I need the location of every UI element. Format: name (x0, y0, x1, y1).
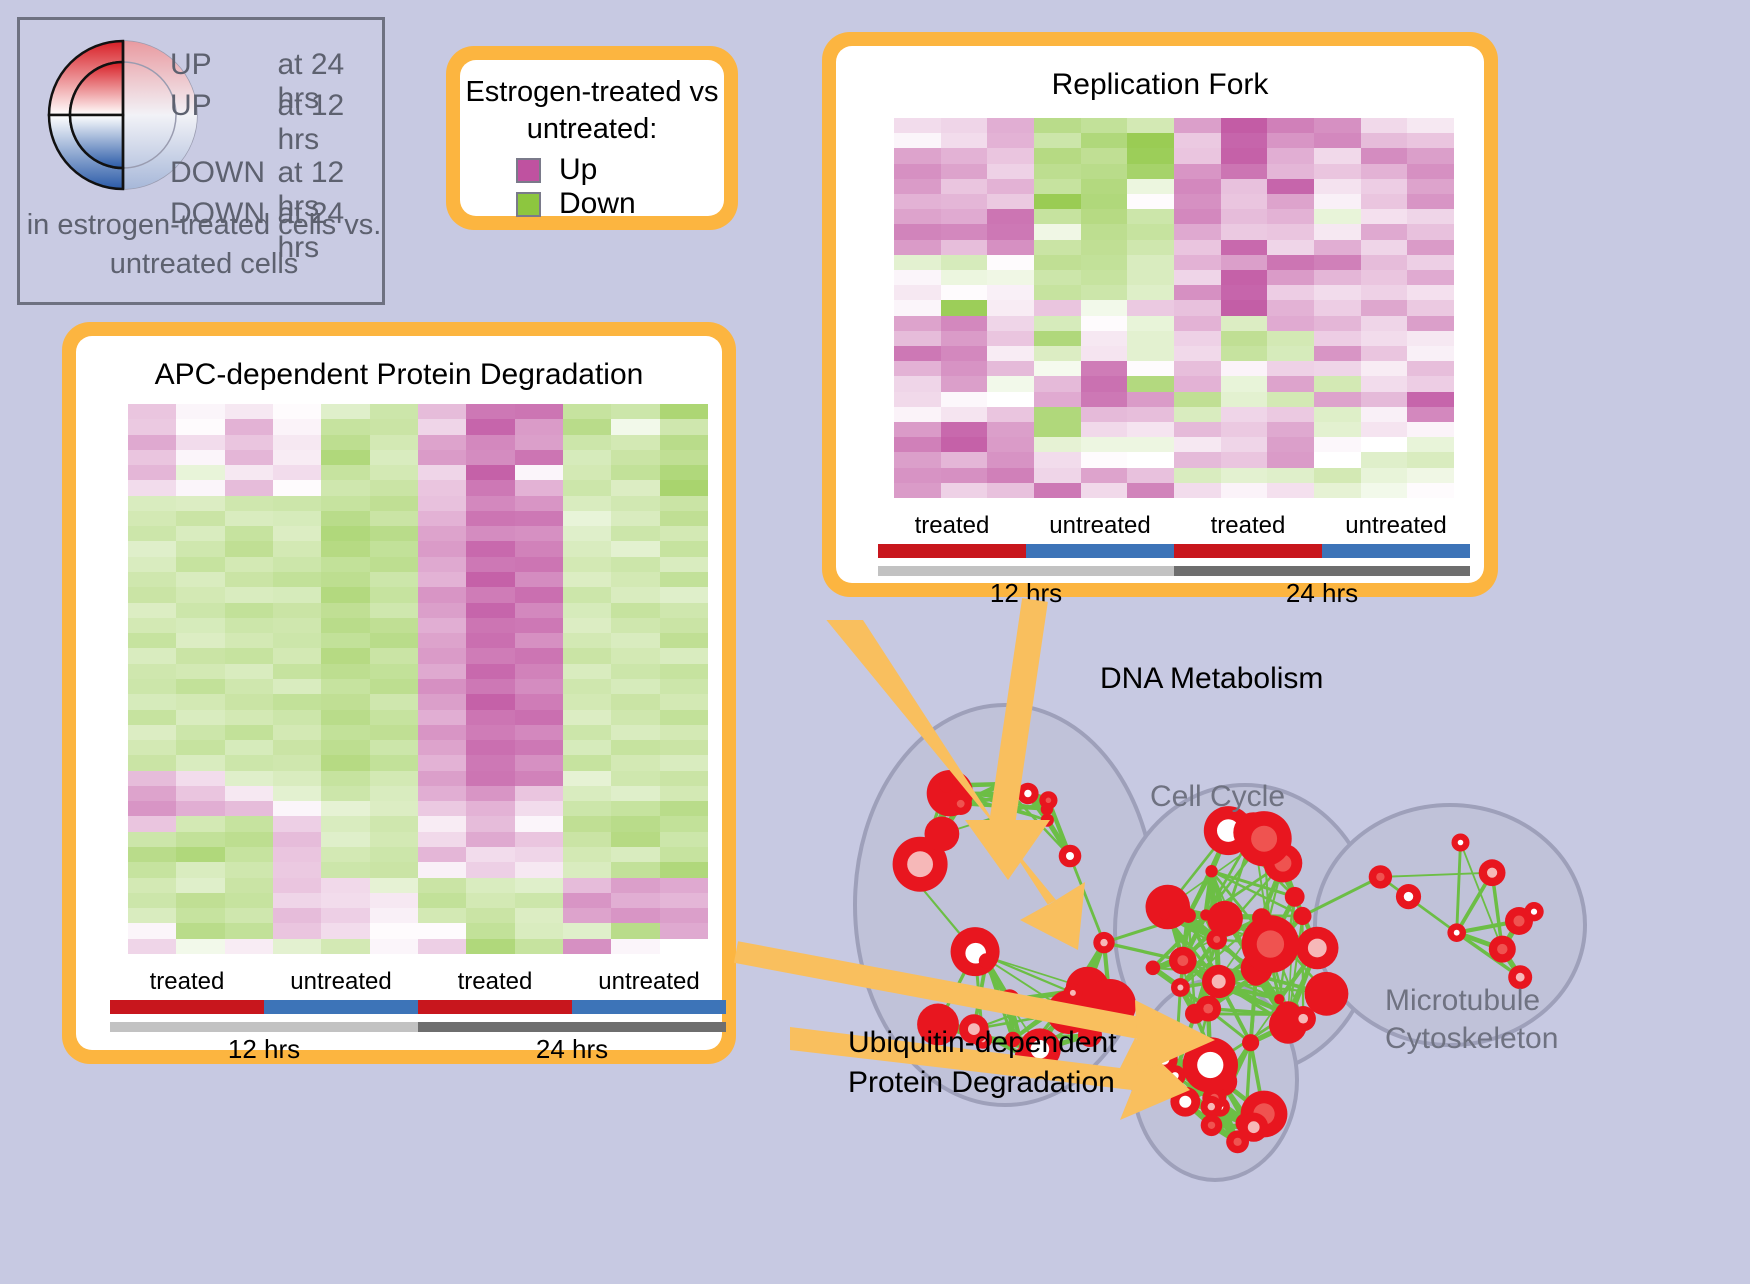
heatmap-cell (273, 511, 321, 526)
heatmap-cell (1127, 255, 1174, 270)
heatmap-cell (321, 541, 369, 556)
heatmap-cell (563, 786, 611, 801)
heatmap-cell (515, 923, 563, 938)
heatmap-cell (894, 361, 941, 376)
heatmap-cell (370, 450, 418, 465)
heatmap-cell (466, 633, 514, 648)
heatmap-cell (466, 923, 514, 938)
heatmap-cell (128, 679, 176, 694)
heatmap-cell (370, 587, 418, 602)
heatmap-cell (1081, 255, 1128, 270)
heatmap-cell (418, 801, 466, 816)
heatmap-cell (466, 740, 514, 755)
heatmap-cell (515, 832, 563, 847)
heatmap-cell (1314, 118, 1361, 133)
heatmap-cell (611, 435, 659, 450)
heatmap-cell (1267, 361, 1314, 376)
heatmap-cell (1127, 452, 1174, 467)
heatmap-cell (1081, 194, 1128, 209)
heatmap-cell (370, 740, 418, 755)
heatmap-cell (515, 404, 563, 419)
heatmap-cell (1221, 452, 1268, 467)
heatmap-cell (1267, 179, 1314, 194)
heatmap-cell (1361, 392, 1408, 407)
time-label: 24 hrs (418, 1034, 726, 1065)
heatmap-cell (321, 480, 369, 495)
heatmap-cell (1314, 452, 1361, 467)
heatmap-cell (1127, 437, 1174, 452)
heatmap-cell (466, 450, 514, 465)
heatmap-cell (466, 862, 514, 877)
heatmap-cell (660, 878, 708, 893)
heatmap-cell (894, 164, 941, 179)
heatmap-cell (273, 664, 321, 679)
heatmap-cell (273, 603, 321, 618)
heatmap-cell (515, 603, 563, 618)
treatment-segment (572, 1000, 726, 1014)
heatmap-cell (370, 694, 418, 709)
heatmap-cell (660, 893, 708, 908)
heatmap-cell (515, 755, 563, 770)
heatmap-cell (128, 557, 176, 572)
heatmap-cell (1221, 118, 1268, 133)
heatmap-cell (611, 572, 659, 587)
heatmap-cell (128, 572, 176, 587)
heatmap-cell (1267, 270, 1314, 285)
heatmap-cell (466, 878, 514, 893)
heatmap-cell (176, 603, 224, 618)
heatmap-cell (225, 725, 273, 740)
heatmap-cell (1314, 392, 1361, 407)
ck-time: at 12 hrs (277, 89, 382, 157)
heatmap-cell (563, 465, 611, 480)
heatmap-cell (176, 801, 224, 816)
heatmap-cell (1267, 240, 1314, 255)
time-segment-24h (418, 1022, 726, 1032)
heatmap-cell (370, 511, 418, 526)
heatmap-cell (563, 541, 611, 556)
heatmap-cell (1221, 437, 1268, 452)
heatmap-cell (660, 587, 708, 602)
heatmap-cell (894, 285, 941, 300)
heatmap-cell (1127, 300, 1174, 315)
heatmap-cell (1314, 407, 1361, 422)
heatmap-cell (466, 755, 514, 770)
heatmap-cell (370, 496, 418, 511)
heatmap-cell (894, 209, 941, 224)
heatmap-cell (1081, 452, 1128, 467)
heatmap-cell (321, 526, 369, 541)
heatmap-cell (1407, 483, 1454, 498)
heatmap-cell (225, 923, 273, 938)
heatmap-cell (1221, 240, 1268, 255)
heatmap-cell (987, 285, 1034, 300)
treatment-segment (418, 1000, 572, 1014)
heatmap-cell (894, 316, 941, 331)
heatmap-cell (273, 832, 321, 847)
heatmap-cell (418, 496, 466, 511)
heatmap-cell (176, 572, 224, 587)
heatmap-cell (321, 939, 369, 954)
heatmap-cell (273, 618, 321, 633)
heatmap-cell (418, 893, 466, 908)
heatmap-cell (515, 847, 563, 862)
heatmap-cell (1034, 194, 1081, 209)
heatmap-cell (418, 786, 466, 801)
heatmap-cell (1314, 285, 1361, 300)
heatmap-cell (1407, 468, 1454, 483)
heatmap-cell (563, 603, 611, 618)
heatmap-cell (515, 893, 563, 908)
heatmap-cell (1081, 316, 1128, 331)
heatmap-cell (176, 816, 224, 831)
heatmap-cell (1174, 300, 1221, 315)
heatmap-cell (941, 148, 988, 163)
heatmap-cell (321, 893, 369, 908)
heatmap-cell (660, 435, 708, 450)
heatmap-cell (466, 572, 514, 587)
heatmap-cell (515, 939, 563, 954)
heatmap-cell (1314, 331, 1361, 346)
heatmap-cell (894, 194, 941, 209)
heatmap-cell (941, 285, 988, 300)
replication-fork-heatmap (894, 118, 1454, 498)
heatmap-cell (466, 786, 514, 801)
heatmap-cell (941, 392, 988, 407)
heatmap-cell (1267, 407, 1314, 422)
heatmap-cell (225, 618, 273, 633)
heatmap-cell (611, 710, 659, 725)
heatmap-cell (941, 316, 988, 331)
heatmap-cell (660, 710, 708, 725)
heatmap-cell (1407, 179, 1454, 194)
group-label: untreated (1322, 512, 1470, 540)
heatmap-cell (225, 939, 273, 954)
heatmap-cell (941, 224, 988, 239)
apc-treatment-bar (110, 1000, 726, 1014)
heatmap-cell (321, 878, 369, 893)
heatmap-cell (611, 603, 659, 618)
heatmap-cell (321, 740, 369, 755)
heatmap-cell (515, 572, 563, 587)
replication-fork-treatment-bar (878, 544, 1470, 558)
heatmap-cell (1361, 483, 1408, 498)
heatmap-cell (515, 710, 563, 725)
heatmap-cell (1034, 285, 1081, 300)
heatmap-cell (1221, 164, 1268, 179)
heatmap-cell (1034, 224, 1081, 239)
heatmap-cell (987, 300, 1034, 315)
heatmap-cell (418, 847, 466, 862)
heatmap-cell (894, 255, 941, 270)
heatmap-cell (1034, 209, 1081, 224)
group-label: untreated (572, 968, 726, 996)
heatmap-cell (1221, 376, 1268, 391)
callout-arrows (790, 620, 1750, 1279)
apc-panel: APC-dependent Protein Degradation treate… (62, 322, 736, 1064)
heatmap-cell (128, 832, 176, 847)
heatmap-cell (1034, 437, 1081, 452)
heatmap-cell (1174, 483, 1221, 498)
heatmap-cell (1267, 224, 1314, 239)
heatmap-cell (1407, 164, 1454, 179)
heatmap-cell (1081, 346, 1128, 361)
heatmap-cell (1267, 133, 1314, 148)
heatmap-cell (660, 633, 708, 648)
cluster-label-ubiquitin-protein-degradation: Ubiquitin-dependent Protein Degradation (848, 1023, 1117, 1103)
heatmap-cell (1034, 361, 1081, 376)
heatmap-cell (611, 816, 659, 831)
heatmap-cell (660, 679, 708, 694)
heatmap-cell (1361, 255, 1408, 270)
heatmap-cell (1314, 483, 1361, 498)
heatmap-cell (611, 694, 659, 709)
heatmap-cell (1361, 209, 1408, 224)
heatmap-cell (1267, 376, 1314, 391)
heatmap-cell (1127, 331, 1174, 346)
color-key-box: UP at 24 hrs UP at 12 hrs DOWN at 12 hrs… (17, 17, 385, 305)
heatmap-cell (1034, 148, 1081, 163)
heatmap-cell (563, 526, 611, 541)
heatmap-cell (418, 450, 466, 465)
heatmap-cell (176, 618, 224, 633)
heatmap-cell (987, 346, 1034, 361)
heatmap-cell (1081, 376, 1128, 391)
heatmap-cell (1407, 133, 1454, 148)
heatmap-cell (225, 404, 273, 419)
heatmap-cell (418, 862, 466, 877)
heatmap-cell (1127, 224, 1174, 239)
heatmap-cell (273, 679, 321, 694)
heatmap-cell (225, 648, 273, 663)
heatmap-cell (273, 847, 321, 862)
heatmap-cell (225, 465, 273, 480)
heatmap-cell (1034, 118, 1081, 133)
heatmap-cell (321, 450, 369, 465)
heatmap-cell (466, 465, 514, 480)
heatmap-cell (225, 908, 273, 923)
heatmap-cell (660, 541, 708, 556)
heatmap-cell (987, 361, 1034, 376)
heatmap-cell (1034, 300, 1081, 315)
heatmap-cell (273, 480, 321, 495)
heatmap-cell (1221, 270, 1268, 285)
heatmap-cell (515, 862, 563, 877)
heatmap-cell (1361, 452, 1408, 467)
heatmap-cell (321, 404, 369, 419)
heatmap-cell (1314, 148, 1361, 163)
heatmap-cell (1361, 148, 1408, 163)
heatmap-cell (515, 786, 563, 801)
heatmap-cell (176, 694, 224, 709)
heatmap-cell (660, 450, 708, 465)
heatmap-cell (321, 511, 369, 526)
heatmap-cell (515, 557, 563, 572)
cluster-label-cell-cycle: Cell Cycle (1150, 780, 1285, 814)
heatmap-cell (1361, 361, 1408, 376)
heatmap-cell (418, 557, 466, 572)
cluster-label-microtubule-cytoskeleton: Microtubule Cytoskeleton (1385, 982, 1558, 1058)
heatmap-cell (1034, 376, 1081, 391)
legend-title: Estrogen-treated vs untreated: (460, 74, 724, 148)
heatmap-cell (1174, 468, 1221, 483)
heatmap-cell (563, 572, 611, 587)
heatmap-cell (370, 801, 418, 816)
heatmap-cell (611, 725, 659, 740)
heatmap-cell (1174, 240, 1221, 255)
heatmap-cell (515, 694, 563, 709)
heatmap-cell (1221, 209, 1268, 224)
heatmap-cell (1267, 422, 1314, 437)
heatmap-cell (894, 179, 941, 194)
heatmap-cell (563, 725, 611, 740)
apc-time-bar (110, 1022, 726, 1032)
heatmap-cell (370, 908, 418, 923)
heatmap-cell (176, 557, 224, 572)
heatmap-cell (466, 480, 514, 495)
heatmap-cell (1361, 407, 1408, 422)
heatmap-cell (321, 694, 369, 709)
heatmap-cell (894, 452, 941, 467)
heatmap-cell (611, 496, 659, 511)
heatmap-cell (1314, 224, 1361, 239)
heatmap-cell (1081, 392, 1128, 407)
heatmap-cell (1361, 179, 1408, 194)
treatment-segment (1026, 544, 1174, 558)
heatmap-cell (1034, 133, 1081, 148)
heatmap-cell (515, 908, 563, 923)
heatmap-cell (1267, 483, 1314, 498)
heatmap-cell (987, 255, 1034, 270)
heatmap-cell (515, 511, 563, 526)
heatmap-cell (466, 725, 514, 740)
heatmap-cell (321, 786, 369, 801)
heatmap-cell (515, 541, 563, 556)
heatmap-cell (176, 755, 224, 770)
heatmap-cell (1221, 316, 1268, 331)
heatmap-cell (563, 587, 611, 602)
heatmap-cell (466, 526, 514, 541)
heatmap-cell (1267, 285, 1314, 300)
heatmap-cell (894, 224, 941, 239)
heatmap-cell (1267, 300, 1314, 315)
heatmap-cell (466, 816, 514, 831)
color-key-footer: in estrogen-treated cells vs. untreated … (20, 206, 388, 284)
heatmap-cell (563, 648, 611, 663)
heatmap-cell (176, 526, 224, 541)
heatmap-cell (370, 771, 418, 786)
heatmap-cell (1314, 164, 1361, 179)
heatmap-cell (418, 572, 466, 587)
heatmap-cell (660, 755, 708, 770)
heatmap-cell (418, 694, 466, 709)
heatmap-cell (273, 755, 321, 770)
heatmap-cell (1034, 164, 1081, 179)
heatmap-cell (1407, 118, 1454, 133)
heatmap-cell (1127, 118, 1174, 133)
heatmap-cell (894, 483, 941, 498)
heatmap-cell (1221, 331, 1268, 346)
heatmap-cell (941, 452, 988, 467)
heatmap-cell (1127, 392, 1174, 407)
treatment-segment (264, 1000, 418, 1014)
heatmap-cell (1174, 452, 1221, 467)
heatmap-cell (418, 541, 466, 556)
heatmap-cell (563, 480, 611, 495)
legend-panel: Estrogen-treated vs untreated: Up Down (446, 46, 738, 230)
legend-label-up: Up (559, 155, 597, 185)
heatmap-cell (321, 908, 369, 923)
heatmap-cell (1407, 240, 1454, 255)
heatmap-cell (1081, 437, 1128, 452)
heatmap-cell (370, 526, 418, 541)
heatmap-cell (370, 939, 418, 954)
heatmap-cell (128, 710, 176, 725)
heatmap-cell (563, 404, 611, 419)
apc-panel-inner: APC-dependent Protein Degradation treate… (76, 336, 722, 1050)
heatmap-cell (128, 587, 176, 602)
heatmap-cell (660, 694, 708, 709)
heatmap-cell (611, 633, 659, 648)
heatmap-cell (128, 939, 176, 954)
heatmap-cell (418, 419, 466, 434)
replication-fork-title: Replication Fork (836, 68, 1484, 102)
heatmap-cell (273, 771, 321, 786)
heatmap-cell (1314, 209, 1361, 224)
heatmap-cell (466, 939, 514, 954)
heatmap-cell (1407, 437, 1454, 452)
heatmap-cell (273, 633, 321, 648)
heatmap-cell (563, 679, 611, 694)
heatmap-cell (1127, 240, 1174, 255)
heatmap-cell (941, 483, 988, 498)
heatmap-cell (515, 648, 563, 663)
heatmap-cell (273, 786, 321, 801)
heatmap-cell (1221, 422, 1268, 437)
heatmap-cell (660, 725, 708, 740)
heatmap-cell (660, 618, 708, 633)
ck-direction: DOWN (170, 156, 277, 190)
heatmap-cell (1361, 316, 1408, 331)
heatmap-cell (128, 541, 176, 556)
heatmap-cell (987, 270, 1034, 285)
heatmap-cell (611, 541, 659, 556)
treatment-segment (110, 1000, 264, 1014)
heatmap-cell (987, 224, 1034, 239)
heatmap-cell (225, 572, 273, 587)
heatmap-cell (128, 786, 176, 801)
heatmap-cell (563, 847, 611, 862)
heatmap-cell (370, 465, 418, 480)
heatmap-cell (176, 648, 224, 663)
heatmap-cell (1267, 392, 1314, 407)
heatmap-cell (128, 755, 176, 770)
heatmap-cell (225, 587, 273, 602)
heatmap-cell (611, 893, 659, 908)
heatmap-cell (225, 801, 273, 816)
time-segment-24h (1174, 566, 1470, 576)
legend-item-down: Down (516, 187, 636, 221)
heatmap-cell (225, 862, 273, 877)
heatmap-cell (176, 771, 224, 786)
heatmap-cell (466, 541, 514, 556)
heatmap-cell (128, 526, 176, 541)
heatmap-cell (128, 648, 176, 663)
heatmap-cell (515, 526, 563, 541)
heatmap-cell (273, 557, 321, 572)
heatmap-cell (370, 633, 418, 648)
heatmap-cell (1174, 164, 1221, 179)
